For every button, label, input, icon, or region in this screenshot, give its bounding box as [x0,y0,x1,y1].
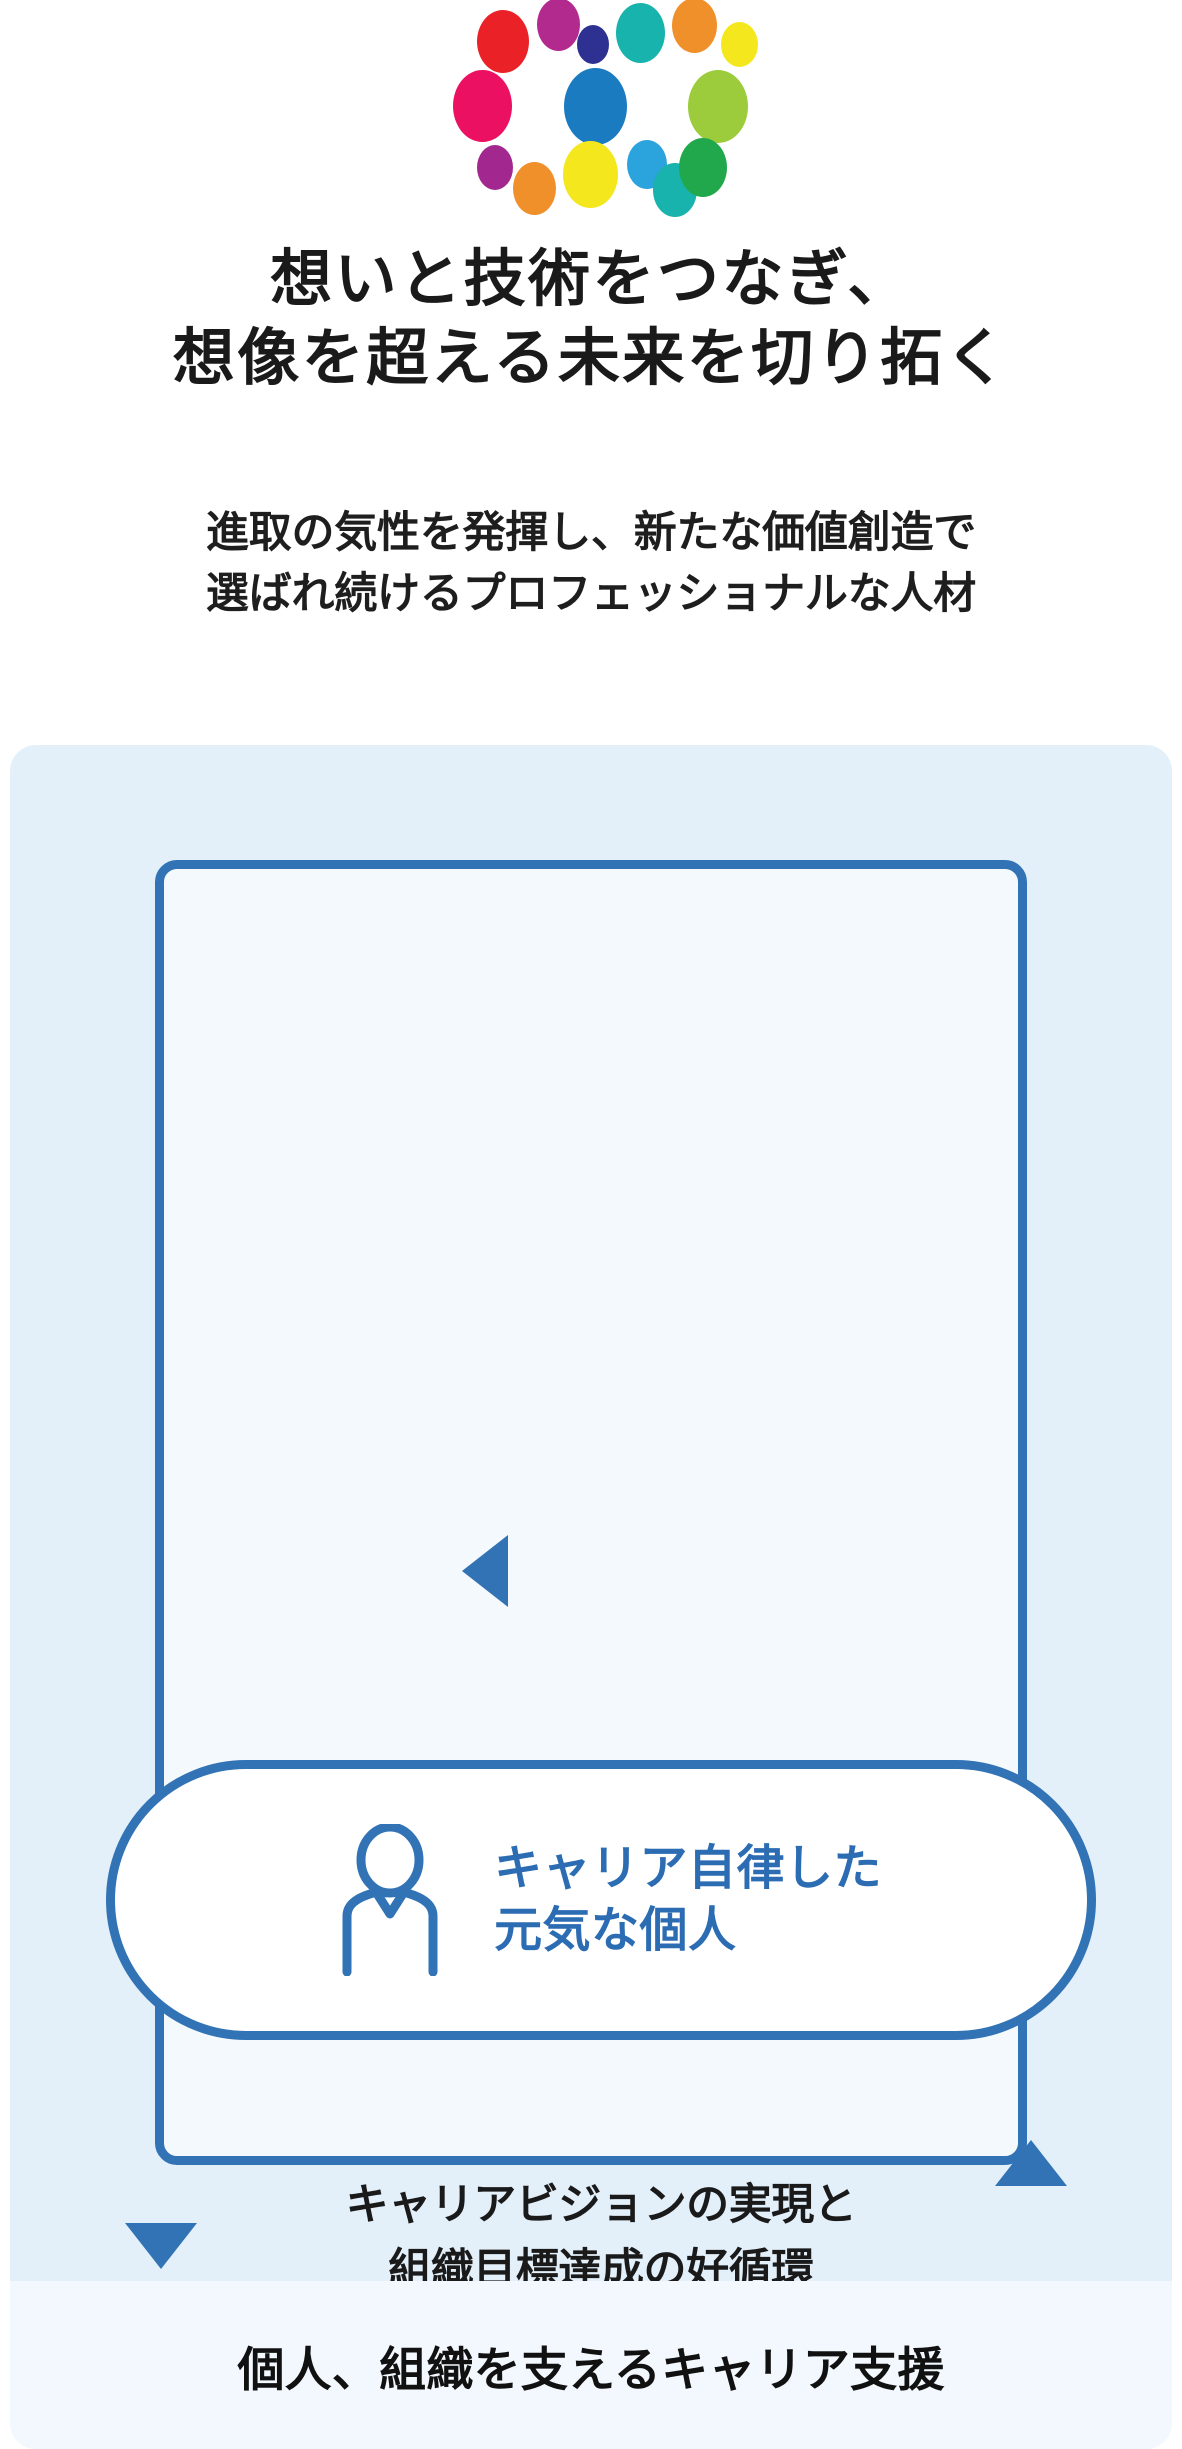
card-individual-line-1: キャリア自律した [494,1838,882,1900]
card-individual-label: キャリア自律した 元気な個人 [494,1838,882,1963]
logo-dot-orange-bot [513,162,556,215]
subtitle-line-1: 進取の気性を発揮し、新たな価値創造で [0,503,1182,564]
logo-dot-magenta [537,0,580,51]
logo-dot-red [477,10,529,73]
person-icon [320,1820,460,1980]
logo-container [0,0,1182,215]
logo-dot-pink [453,70,512,142]
headline-line-2: 想像を超える未来を切り拓く [0,319,1182,398]
logo-dot-orange-top [672,0,717,53]
card-individual[interactable]: キャリア自律した 元気な個人 [106,1760,1096,2040]
page-title: 想いと技術をつなぎ、 想像を超える未来を切り拓く [0,240,1182,399]
cycle-center-line-1: キャリアビジョンの実現と [10,2173,1172,2238]
career-support-banner: 個人、組織を支えるキャリア支援 [10,2281,1172,2449]
page-subtitle: 進取の気性を発揮し、新たな価値創造で 選ばれ続けるプロフェッショナルな人材 [0,503,1182,625]
logo-dot-blue-big [564,68,627,145]
headline-line-1: 想いと技術をつなぎ、 [0,240,1182,319]
logo-dot-purple [477,145,513,190]
career-support-label: 個人、組織を支えるキャリア支援 [237,2331,944,2400]
card-individual-line-2: 元気な個人 [494,1900,882,1962]
arrow-left-icon [462,1535,508,1607]
logo-dot-yellow-top [721,22,758,67]
logo-dot-teal [616,3,665,63]
logo-dot-lime [688,70,748,143]
subtitle-line-2: 選ばれ続けるプロフェッショナルな人材 [0,564,1182,625]
logo-dot-green [679,138,727,197]
logo-dot-yellow-big [563,141,618,208]
career-cycle-diagram: キャリア自律した 元気な個人 キャリアビジョンの実現と 組織目標達成の好循環 [10,745,1172,2449]
page-root: 想いと技術をつなぎ、 想像を超える未来を切り拓く 進取の気性を発揮し、新たな価値… [0,0,1182,2449]
logo-dot-navy [577,25,609,64]
company-ring-logo [391,0,791,210]
